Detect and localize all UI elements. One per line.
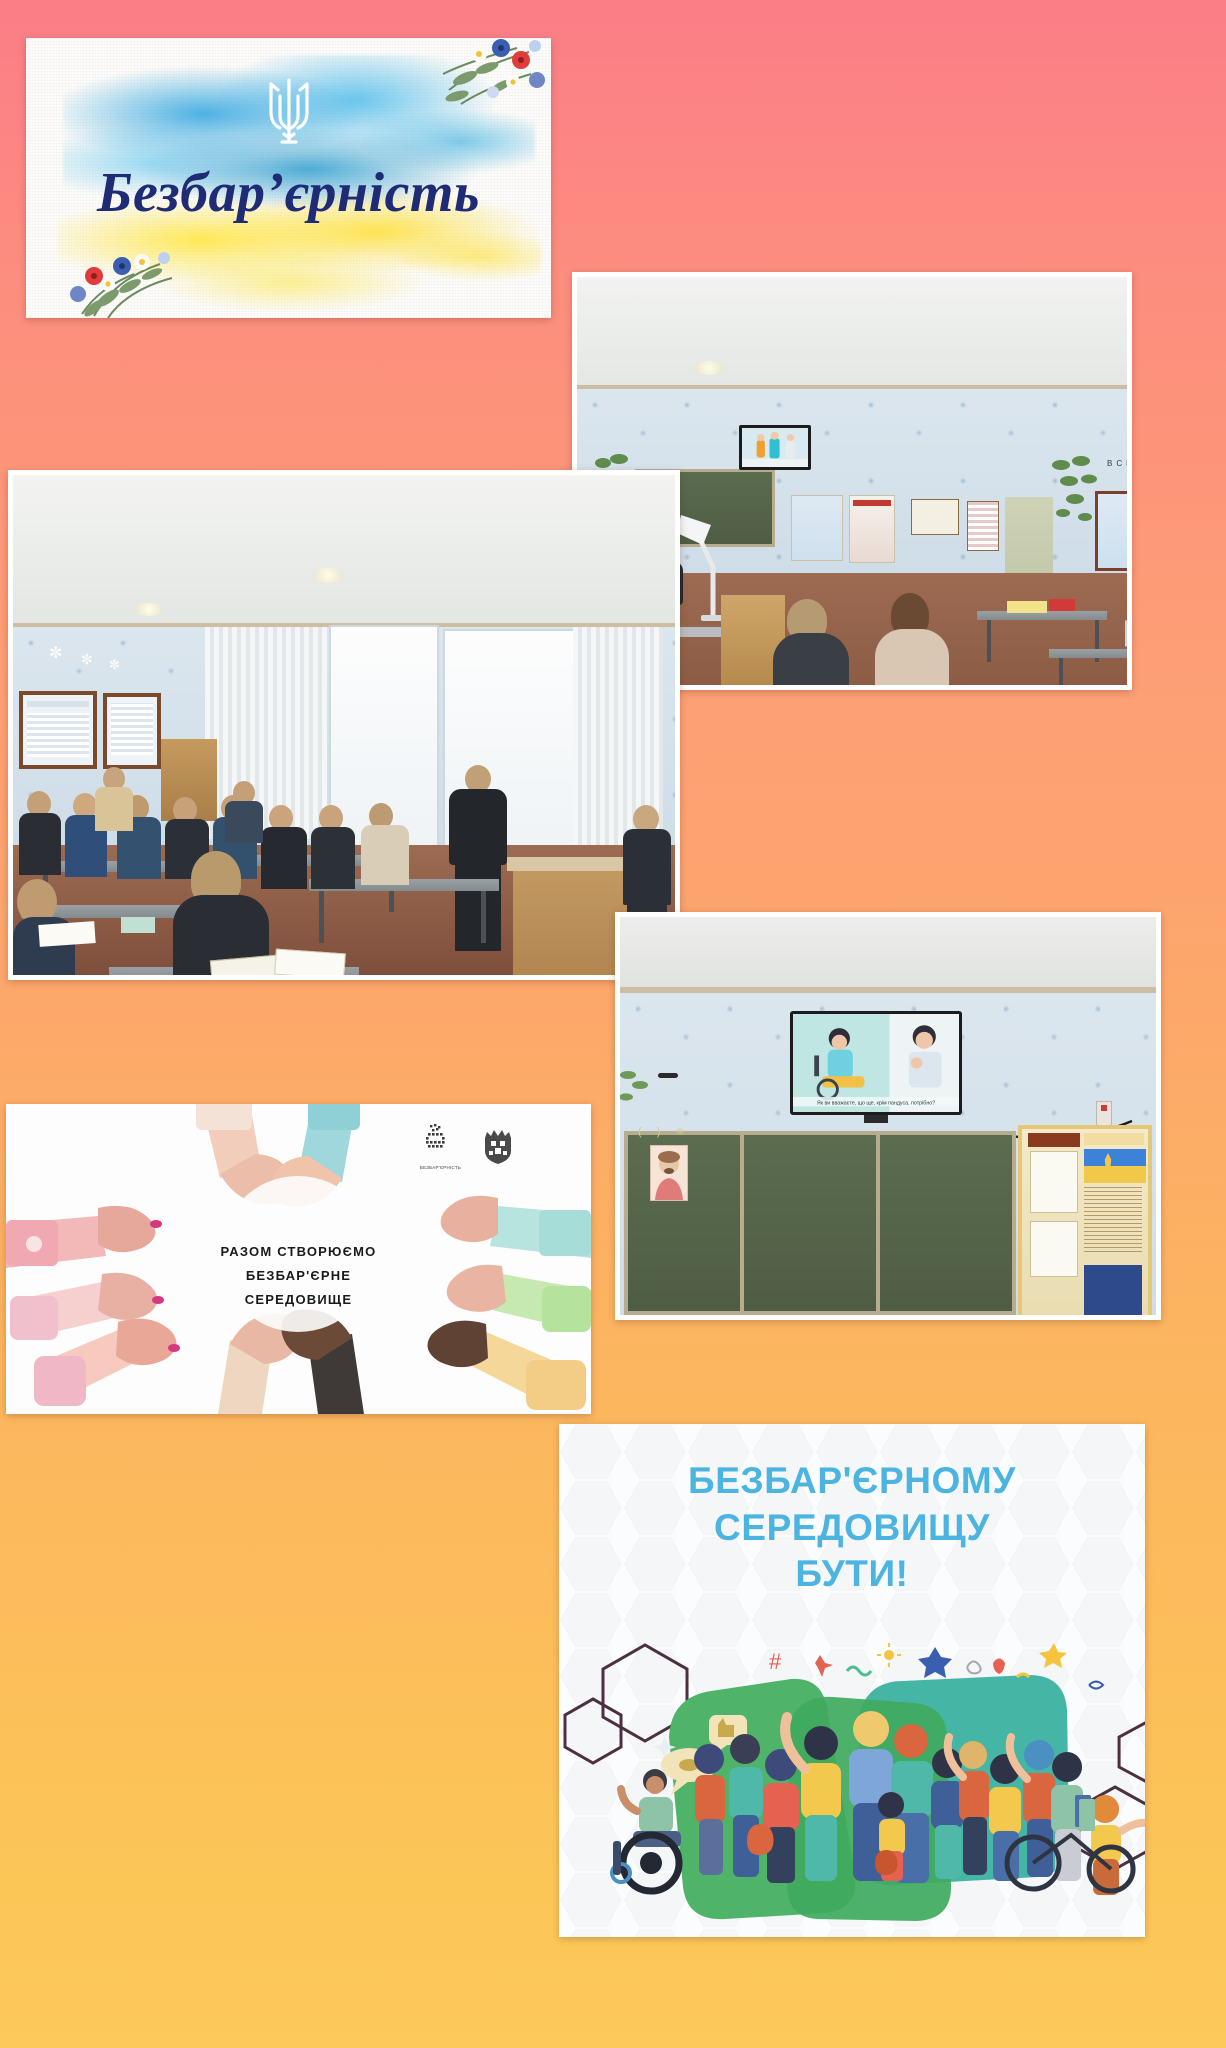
paper-left <box>38 921 95 947</box>
photo-classroom-tv-video-image: Як ви вважаєте, що ще, крім пандуса, пот… <box>620 917 1156 1315</box>
audience-person-7 <box>311 805 355 889</box>
ceiling <box>620 917 1156 989</box>
papers <box>274 949 346 975</box>
photo-classroom-audience: ✼ ✼ ✼ <box>8 470 680 980</box>
poster-bezbariernomu-seredovyshchu: БЕЗБАР'ЄРНОМУ СЕРЕДОВИЩУ БУТИ! # <box>559 1424 1145 1937</box>
snowflake-decor-1: ✼ <box>49 643 62 663</box>
ceiling <box>577 277 1127 387</box>
ceiling-lamp-left <box>135 603 163 616</box>
audience-person-1 <box>19 791 61 875</box>
standing-presenter <box>449 765 507 951</box>
poster-hands-circle: БЕЗБАР'ЄРНІСТЬ РАЗОМ СТВОРЮЄМО БЕЗБАР'ЄР… <box>6 1104 591 1414</box>
snowflake-decor-3: ✼ <box>109 657 120 673</box>
wall-frame-left <box>911 499 959 535</box>
wall-poster-red <box>849 495 895 563</box>
student-back-left <box>773 599 849 685</box>
student-desk-front <box>1049 649 1127 658</box>
lectern-top <box>507 857 637 871</box>
poster-bottom-line-1: БЕЗБАР'ЄРНОМУ <box>559 1458 1145 1505</box>
ukrainian-trident-icon <box>259 72 319 150</box>
diverse-crowd-illustration: # <box>559 1619 1145 1937</box>
info-board-2 <box>103 693 161 769</box>
poster-bottom-title: БЕЗБАР'ЄРНОМУ СЕРЕДОВИЩУ БУТИ! <box>559 1458 1145 1598</box>
tv-screen: Як ви вважаєте, що ще, крім пандуса, пот… <box>793 1014 959 1112</box>
info-board-1 <box>19 691 97 769</box>
bezbariernist-logo-caption: БЕЗБАР'ЄРНІСТЬ <box>420 1165 461 1170</box>
flowers-top-right-icon <box>409 38 549 164</box>
audience-person-10 <box>225 781 263 843</box>
ceiling-lamp-left <box>695 361 723 375</box>
book-green <box>121 917 155 933</box>
audience-person-8 <box>361 803 409 885</box>
shakespeare-portrait <box>650 1145 688 1201</box>
poster-hands-logos: БЕЗБАР'ЄРНІСТЬ <box>420 1124 513 1170</box>
poster-hands-line-2: БЕЗБАР'ЄРНЕ <box>6 1264 591 1288</box>
ceiling-lamp-center <box>313 567 343 583</box>
wall-poster-blue <box>791 495 843 561</box>
poster-hands-line-3: СЕРЕДОВИЩЕ <box>6 1288 591 1312</box>
photo-classroom-audience-image: ✼ ✼ ✼ <box>13 475 675 975</box>
lectern <box>513 863 631 975</box>
red-folder <box>1049 599 1075 611</box>
poster-bottom-line-2: СЕРЕДОВИЩУ <box>559 1505 1145 1552</box>
snowflake-decor-2: ✼ <box>81 651 93 668</box>
poster-bottom-background: БЕЗБАР'ЄРНОМУ СЕРЕДОВИЩУ БУТИ! # <box>559 1424 1145 1937</box>
regional-coat-of-arms <box>483 1129 513 1170</box>
desk-lamp-icon <box>677 507 721 629</box>
wall-tv: Як ви вважаєте, що ще, крім пандуса, пот… <box>790 1011 962 1115</box>
photo-collage: Безбар’єрність <box>0 0 1226 2048</box>
svg-text:#: # <box>769 1649 782 1674</box>
poster-bottom-line-3: БУТИ! <box>559 1551 1145 1598</box>
photo-classroom-tv-video: Як ви вважаєте, що ще, крім пандуса, пот… <box>615 912 1161 1320</box>
bezbariernist-logo: БЕЗБАР'ЄРНІСТЬ <box>420 1124 461 1170</box>
banner-card: Безбар’єрність <box>26 38 551 318</box>
wall-frame-right <box>967 501 999 551</box>
alphabet-strip: BCDE <box>1107 459 1127 468</box>
hanging-plant-right-icon <box>1047 455 1107 535</box>
seated-man-right <box>623 805 671 905</box>
poster-hands-line-1: РАЗОМ СТВОРЮЄМО <box>6 1240 591 1264</box>
tv-screen <box>742 428 808 467</box>
poster-hands-text: РАЗОМ СТВОРЮЄМО БЕЗБАР'ЄРНЕ СЕРЕДОВИЩЕ <box>6 1240 591 1312</box>
bezbariernist-logo-icon <box>420 1124 450 1158</box>
plant-left-icon <box>620 1067 660 1127</box>
wall-hook <box>658 1073 678 1078</box>
coat-of-arms-icon <box>483 1129 513 1165</box>
svg-text:Як ви вважаєте, що ще, крім па: Як ви вважаєте, що ще, крім пандуса, пот… <box>817 1101 935 1107</box>
banner-title: Безбар’єрність <box>26 161 551 225</box>
papers-on-desk <box>1007 601 1047 613</box>
student-back-right <box>875 593 949 685</box>
poster-ukraine-anthem <box>1018 1125 1152 1315</box>
ceiling <box>13 475 675 625</box>
wall-tv <box>739 425 811 470</box>
audience-person-9 <box>95 767 133 831</box>
